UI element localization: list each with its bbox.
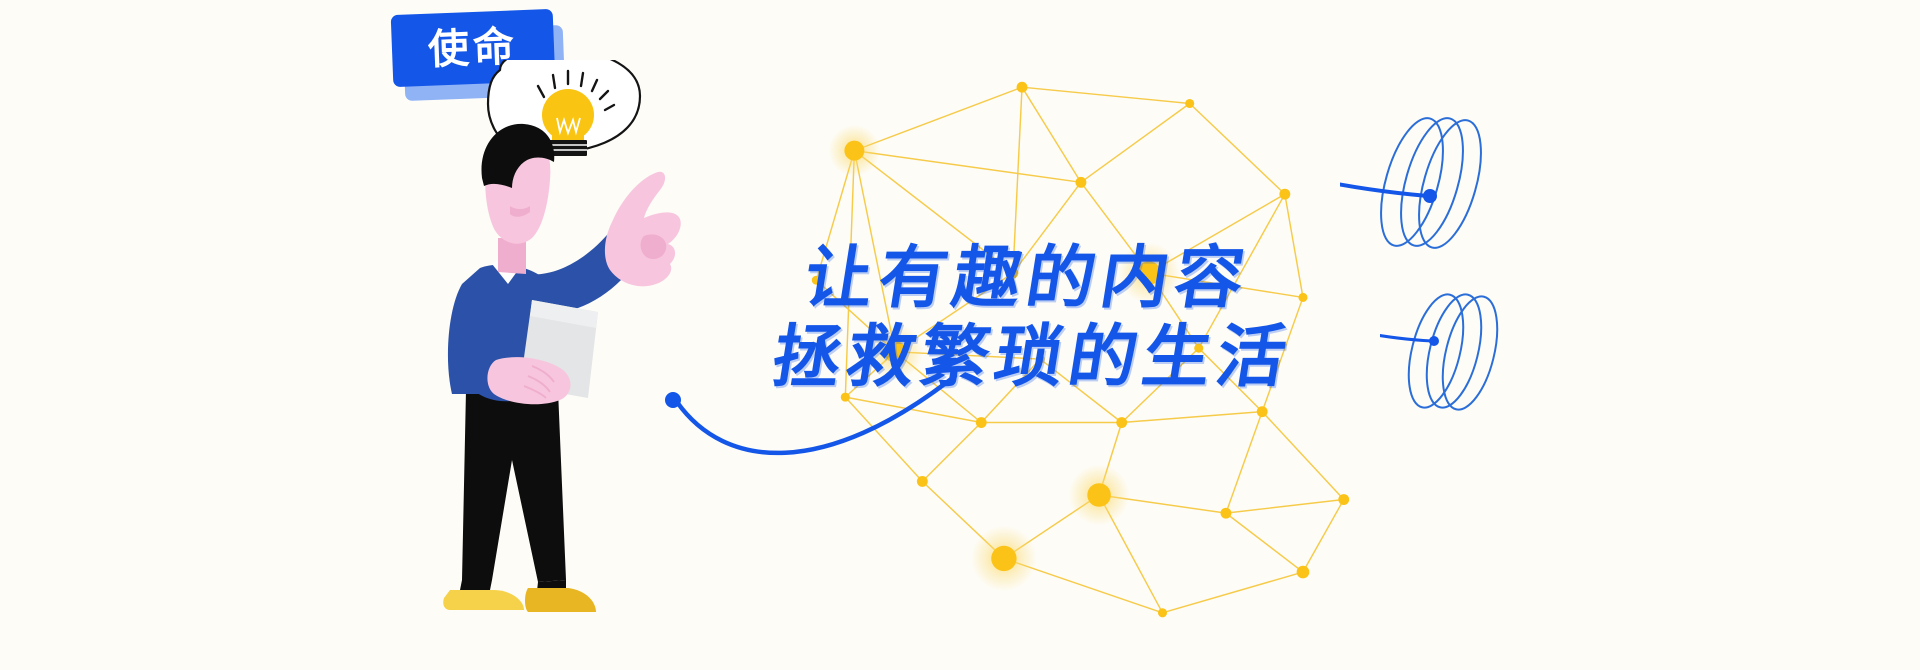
character-neck [498, 238, 526, 274]
pointing-businessman-illustration [440, 60, 740, 670]
headline-line-2: 拯救繁琐的生活 [767, 319, 1531, 398]
headline-block: 让有趣的内容 拯救繁琐的生活 [805, 240, 1525, 398]
network-node [1017, 82, 1028, 93]
network-edge [1226, 412, 1262, 514]
network-node [1297, 566, 1310, 579]
network-node [1076, 177, 1087, 188]
network-edge [1099, 423, 1122, 496]
coil-ellipse-1 [1369, 111, 1455, 252]
network-edge [1226, 500, 1344, 514]
network-edge [1122, 412, 1262, 423]
network-edge [1190, 104, 1285, 195]
coil-ellipse-2 [1389, 111, 1475, 252]
network-edge [1081, 104, 1190, 183]
network-edge [854, 151, 1081, 183]
network-edge [1262, 412, 1344, 500]
network-node [1221, 508, 1232, 519]
network-edge [1226, 513, 1303, 572]
network-edge [1004, 558, 1163, 612]
network-node [1158, 608, 1167, 617]
bulb-base [549, 140, 587, 156]
network-edge [1004, 495, 1099, 558]
network-node-glow [1068, 464, 1129, 525]
coil-ring-top [1340, 100, 1520, 260]
network-node [1257, 406, 1268, 417]
network-node [844, 141, 864, 161]
mission-banner: 使命 [0, 0, 1920, 670]
network-node-glow [971, 525, 1037, 591]
network-node [1279, 189, 1290, 200]
coil-center-dot [1423, 189, 1437, 203]
network-edge [1099, 495, 1162, 613]
network-node-glow [828, 125, 880, 177]
network-edge [1099, 495, 1226, 513]
network-node [1116, 417, 1127, 428]
character-trousers [460, 390, 566, 591]
network-edge [854, 87, 1022, 150]
network-edge [1022, 87, 1190, 103]
network-edge [922, 481, 1004, 558]
network-node [1087, 483, 1111, 507]
network-edge [1163, 572, 1303, 613]
character-head [481, 124, 554, 244]
network-node [991, 546, 1016, 571]
coil-ellipse-3 [1407, 113, 1493, 254]
headline-line-1: 让有趣的内容 [799, 240, 1531, 319]
network-edge [1303, 500, 1344, 573]
character-pointing-hand [605, 172, 681, 287]
network-node [1338, 494, 1349, 505]
character-shoes [443, 588, 596, 612]
network-edge [1022, 87, 1081, 182]
network-node [1185, 99, 1194, 108]
